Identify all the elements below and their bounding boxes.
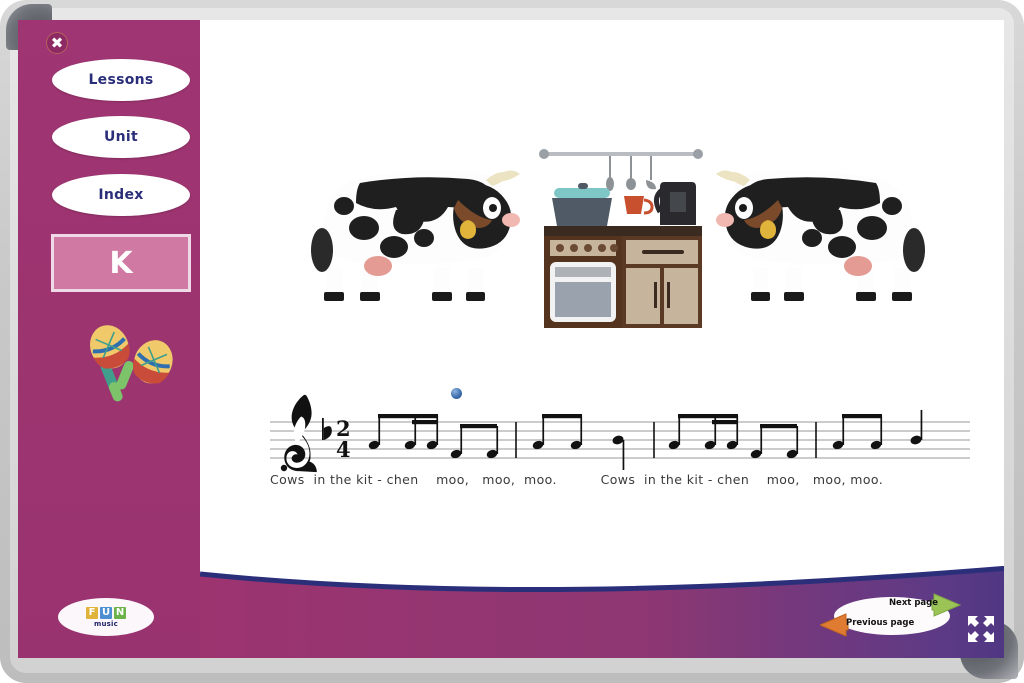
whiteboard-frame: ✖ Lessons Unit Index K xyxy=(0,0,1024,683)
maracas-icon xyxy=(66,318,186,404)
cow-left-illustration xyxy=(308,150,526,315)
brand-subtitle: music xyxy=(94,620,118,628)
brand-logo[interactable]: F U N music xyxy=(58,598,154,636)
sidebar-item-label: Lessons xyxy=(88,72,153,88)
fullscreen-expand-icon[interactable] xyxy=(966,614,996,644)
grade-level-badge[interactable]: K xyxy=(51,234,191,292)
brand-letter-blocks: F U N xyxy=(86,607,126,619)
playhead-marker[interactable] xyxy=(451,388,462,399)
sidebar-item-label: Index xyxy=(98,187,143,203)
next-page-label: Next page xyxy=(889,598,938,608)
brand-block-n: N xyxy=(114,607,126,619)
close-button[interactable]: ✖ xyxy=(46,32,68,54)
app-screen: ✖ Lessons Unit Index K xyxy=(18,20,1004,658)
sidebar-item-index[interactable]: Index xyxy=(52,174,190,216)
lesson-content-area: 2 4 xyxy=(200,20,1004,658)
music-notation-staff[interactable]: 2 4 xyxy=(270,388,970,508)
sidebar-item-lessons[interactable]: Lessons xyxy=(52,59,190,101)
brand-block-u: U xyxy=(100,607,112,619)
cow-right-illustration xyxy=(710,150,928,315)
svg-text:4: 4 xyxy=(336,437,351,462)
brand-block-f: F xyxy=(86,607,98,619)
lyrics-text: Cows in the kit - chen moo, moo, moo. Co… xyxy=(270,472,1004,487)
kitchen-illustration xyxy=(530,140,712,330)
previous-page-button[interactable]: Previous page xyxy=(820,612,900,638)
illustration-row xyxy=(200,140,1004,330)
sidebar: ✖ Lessons Unit Index K xyxy=(18,20,200,658)
sidebar-item-label: Unit xyxy=(104,129,138,145)
sidebar-item-unit[interactable]: Unit xyxy=(52,116,190,158)
grade-level-label: K xyxy=(109,246,132,281)
page-navigation: Next page Previous page xyxy=(826,592,958,640)
close-icon: ✖ xyxy=(51,36,64,51)
previous-page-label: Previous page xyxy=(846,618,914,628)
